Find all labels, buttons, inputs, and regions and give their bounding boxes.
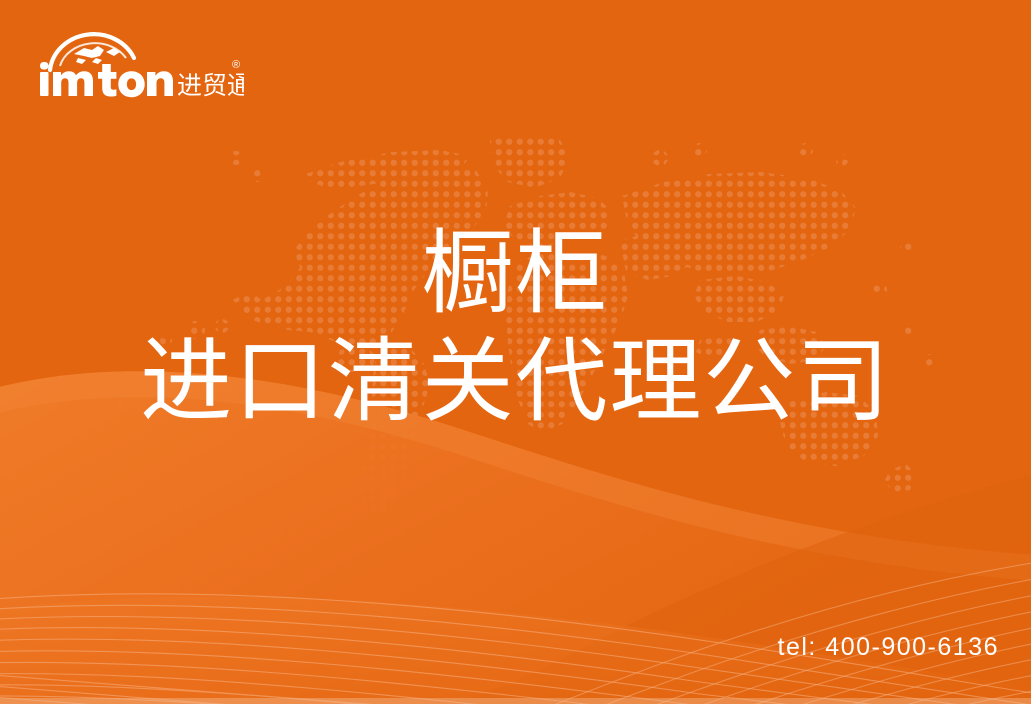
headline-line-1: 橱柜 — [0, 228, 1031, 320]
company-logo[interactable]: 进贸通 ® — [34, 26, 244, 100]
headline-block: 橱柜 进口清关代理公司 — [0, 228, 1031, 428]
contact-phone[interactable]: tel: 400-900-6136 — [778, 633, 999, 662]
marketing-banner: 进贸通 ® 橱柜 进口清关代理公司 tel: 400-900-6136 — [0, 0, 1031, 704]
logo-wordmark — [40, 62, 173, 97]
globe-arc-icon — [50, 34, 134, 70]
registered-trademark-icon: ® — [232, 59, 240, 71]
headline-line-2: 进口清关代理公司 — [0, 336, 1031, 428]
logo-chinese-name: 进贸通 — [177, 71, 244, 100]
